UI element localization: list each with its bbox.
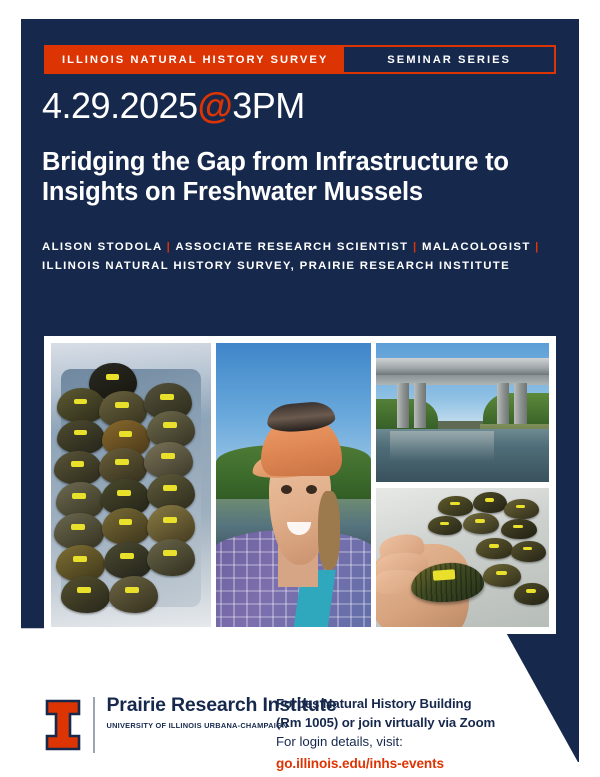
speaker-name: ALISON STODOLA bbox=[42, 241, 162, 253]
speaker-affiliation: ILLINOIS NATURAL HISTORY SURVEY, PRAIRIE… bbox=[42, 260, 510, 272]
page-title: Bridging the Gap from Infrastructure to … bbox=[42, 148, 562, 208]
login-details-label: For login details, visit: bbox=[276, 733, 576, 752]
separator-pipe: | bbox=[413, 241, 418, 253]
venue-room-and-zoom: (Rm 1005) or join virtually via Zoom bbox=[276, 714, 576, 733]
venue-building: Forbes Natural History Building bbox=[276, 695, 576, 714]
speaker-credentials: ALISON STODOLA | ASSOCIATE RESEARCH SCIE… bbox=[42, 238, 547, 276]
series-banner: ILLINOIS NATURAL HISTORY SURVEY SEMINAR … bbox=[44, 45, 556, 74]
logo-divider bbox=[93, 697, 95, 753]
illinois-block-i-icon bbox=[45, 699, 81, 751]
event-date: 4.29.2025 bbox=[42, 85, 198, 126]
photo-tray-of-tagged-mussels bbox=[51, 343, 211, 627]
at-symbol: @ bbox=[198, 85, 233, 126]
seminar-poster: ILLINOIS NATURAL HISTORY SURVEY SEMINAR … bbox=[0, 0, 600, 777]
venue-details: Forbes Natural History Building (Rm 1005… bbox=[276, 695, 576, 774]
photo-collage bbox=[44, 336, 556, 634]
event-time: 3PM bbox=[232, 85, 305, 126]
banner-organization-label: ILLINOIS NATURAL HISTORY SURVEY bbox=[46, 47, 342, 72]
banner-series-label: SEMINAR SERIES bbox=[342, 47, 554, 72]
speaker-role: ASSOCIATE RESEARCH SCIENTIST bbox=[175, 241, 408, 253]
photo-researcher-selfie bbox=[216, 343, 371, 627]
photo-bridge-over-river bbox=[376, 343, 549, 482]
separator-pipe: | bbox=[167, 241, 172, 253]
separator-pipe: | bbox=[535, 241, 540, 253]
speaker-specialty: MALACOLOGIST bbox=[422, 241, 531, 253]
events-link[interactable]: go.illinois.edu/inhs-events bbox=[276, 754, 576, 773]
poster-footer: Prairie Research Institute UNIVERSITY OF… bbox=[0, 681, 600, 777]
photo-hand-holding-mussel bbox=[376, 488, 549, 627]
event-datetime: 4.29.2025@3PM bbox=[42, 88, 305, 124]
